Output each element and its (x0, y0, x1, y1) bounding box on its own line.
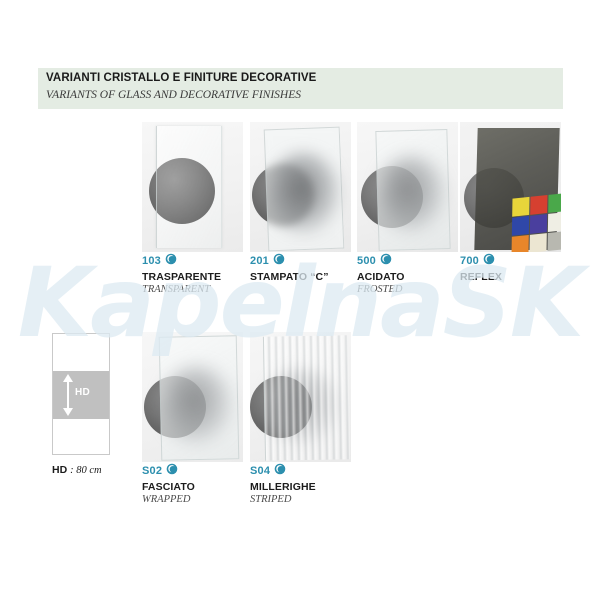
glass-variant-card-201[interactable]: 201 STAMPATO “C” (250, 122, 351, 252)
variant-code: S02 (142, 465, 162, 477)
hd-band-label: HD (75, 387, 90, 398)
variant-code-line: S02 (142, 464, 257, 478)
variant-code-line: 201 (250, 254, 365, 268)
hd-legend: HD HD : 80 cm (52, 333, 110, 455)
color-checker-grid (512, 193, 561, 252)
variant-caption: 700 REFLEX (460, 254, 575, 284)
variant-code: 700 (460, 255, 479, 267)
hd-caption: HD : 80 cm (52, 464, 102, 476)
hd-dimension-arrow-icon (62, 374, 74, 416)
fluted-stripes-shape (263, 335, 350, 460)
hd-caption-key: HD (52, 464, 67, 476)
variant-caption: 201 STAMPATO “C” (250, 254, 365, 284)
diffused-sphere-shape (379, 156, 445, 232)
hd-caption-value: : 80 cm (70, 465, 102, 476)
variant-name-en: STRIPED (250, 494, 365, 505)
printed-c-glass-swatch (250, 122, 351, 252)
glass-variant-card-700[interactable]: 700 REFLEX (460, 122, 561, 252)
glass-variant-card-s04[interactable]: S04 MILLERIGHE STRIPED (250, 332, 351, 462)
variant-code: 201 (250, 255, 269, 267)
variant-name-en: FROSTED (357, 284, 472, 295)
variant-name-en: TRANSPARENT (142, 284, 257, 295)
variant-name-en: WRAPPED (142, 494, 257, 505)
hd-diagram: HD (52, 333, 110, 455)
variant-code: 103 (142, 255, 161, 267)
diffused-sphere-shape (268, 152, 340, 234)
variant-name-it: REFLEX (460, 271, 575, 283)
glass-variant-card-500[interactable]: 500 ACIDATO FROSTED (357, 122, 458, 252)
variant-caption: 103 TRASPARENTE TRANSPARENT (142, 254, 257, 295)
droplet-icon (166, 462, 178, 480)
glass-pane-overlay-shape (156, 126, 222, 248)
variant-code: 500 (357, 255, 376, 267)
variant-code-line: 103 (142, 254, 257, 268)
variant-caption: S02 FASCIATO WRAPPED (142, 464, 257, 505)
reflex-glass-swatch (460, 122, 561, 252)
droplet-icon (165, 252, 177, 270)
droplet-icon (380, 252, 392, 270)
droplet-icon (274, 462, 286, 480)
droplet-icon (273, 252, 285, 270)
variant-name-it: TRASPARENTE (142, 271, 257, 283)
variant-name-it: STAMPATO “C” (250, 271, 365, 283)
glass-variant-card-103[interactable]: 103 TRASPARENTE TRANSPARENT (142, 122, 243, 252)
striped-glass-swatch (250, 332, 351, 462)
page-subtitle: VARIANTS OF GLASS AND DECORATIVE FINISHE… (46, 89, 301, 101)
variant-code-line: 700 (460, 254, 575, 268)
header-banner: VARIANTI CRISTALLO E FINITURE DECORATIVE… (38, 68, 563, 109)
diffused-sphere-shape (162, 366, 232, 444)
variant-code-line: 500 (357, 254, 472, 268)
variant-name-it: FASCIATO (142, 481, 257, 493)
variant-name-it: MILLERIGHE (250, 481, 365, 493)
droplet-icon (483, 252, 495, 270)
variant-code-line: S04 (250, 464, 365, 478)
variant-name-it: ACIDATO (357, 271, 472, 283)
transparent-glass-swatch (142, 122, 243, 252)
glass-variant-card-s02[interactable]: S02 FASCIATO WRAPPED (142, 332, 243, 462)
variant-caption: 500 ACIDATO FROSTED (357, 254, 472, 295)
frosted-glass-swatch (357, 122, 458, 252)
page-title: VARIANTI CRISTALLO E FINITURE DECORATIVE (46, 72, 316, 84)
variant-caption: S04 MILLERIGHE STRIPED (250, 464, 365, 505)
variant-code: S04 (250, 465, 270, 477)
wrapped-glass-swatch (142, 332, 243, 462)
